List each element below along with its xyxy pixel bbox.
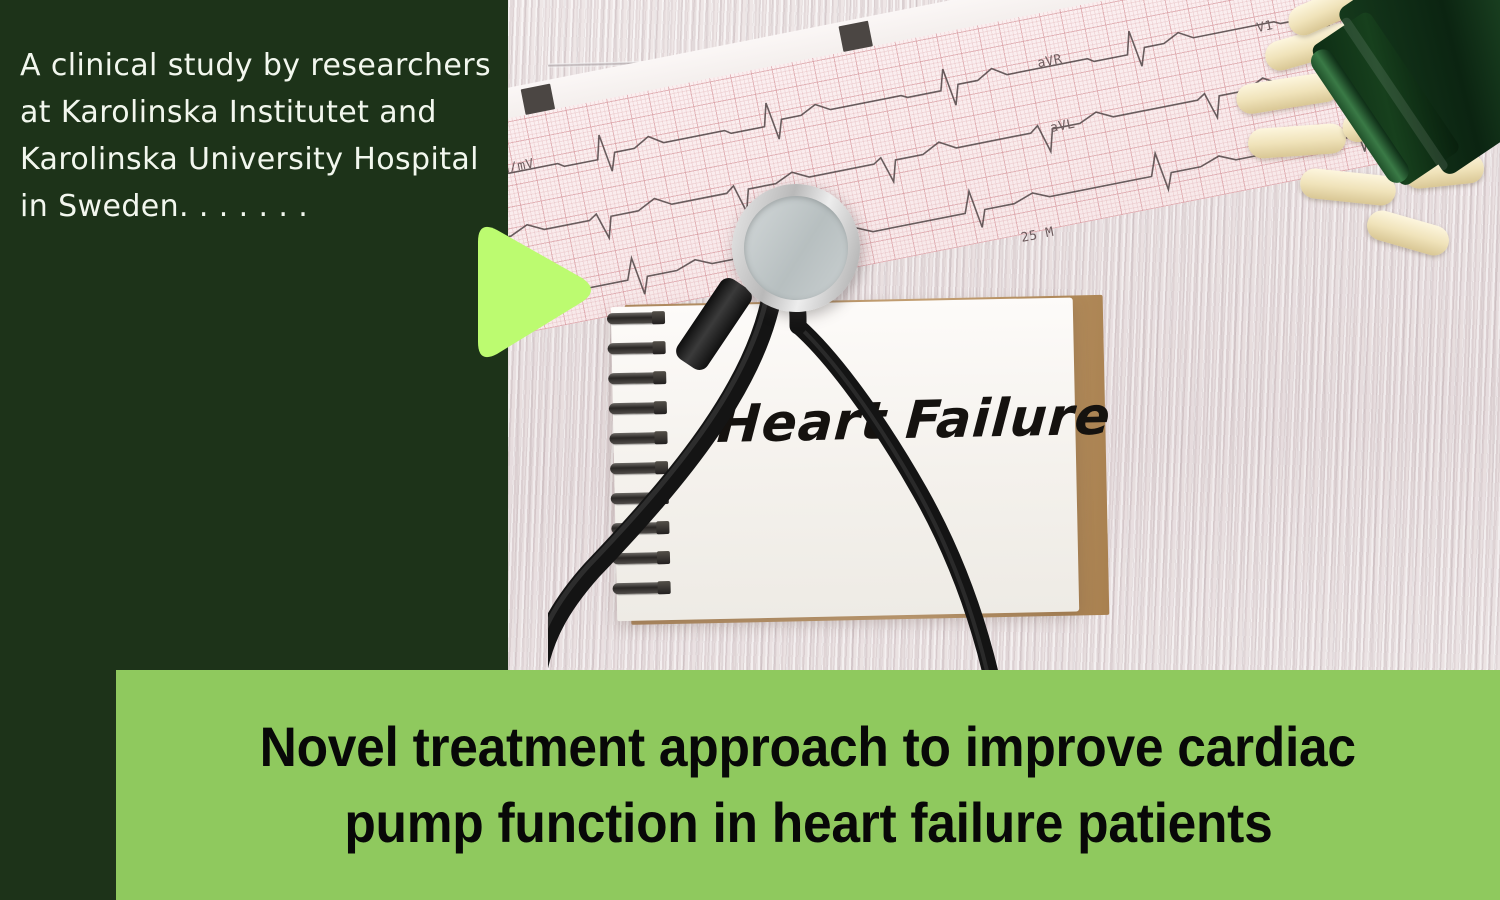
capsule bbox=[1363, 207, 1452, 259]
stethoscope bbox=[588, 190, 1108, 672]
intro-line-3: Karolinska University Hospital bbox=[20, 136, 512, 183]
capsule bbox=[1247, 123, 1347, 160]
headline-line-1: Novel treatment approach to improve card… bbox=[260, 709, 1356, 785]
intro-line-1: A clinical study by researchers bbox=[20, 42, 512, 89]
medical-photo: 10 mm/mV aVR aVL V3 V1 V2 10 mm/mV V4 V5… bbox=[508, 0, 1500, 672]
news-graphic-poster: 10 mm/mV aVR aVL V3 V1 V2 10 mm/mV V4 V5… bbox=[0, 0, 1500, 900]
play-triangle-icon[interactable] bbox=[464, 216, 594, 368]
intro-line-2: at Karolinska Institutet and bbox=[20, 89, 512, 136]
headline-line-2: pump function in heart failure patients bbox=[344, 785, 1272, 861]
intro-paragraph: A clinical study by researchers at Karol… bbox=[20, 42, 512, 230]
pill-bottle-group bbox=[1190, 0, 1500, 316]
capsule bbox=[1299, 167, 1398, 207]
intro-line-4: in Sweden. . . . . . . bbox=[20, 183, 512, 230]
headline-banner: Novel treatment approach to improve card… bbox=[116, 670, 1500, 900]
